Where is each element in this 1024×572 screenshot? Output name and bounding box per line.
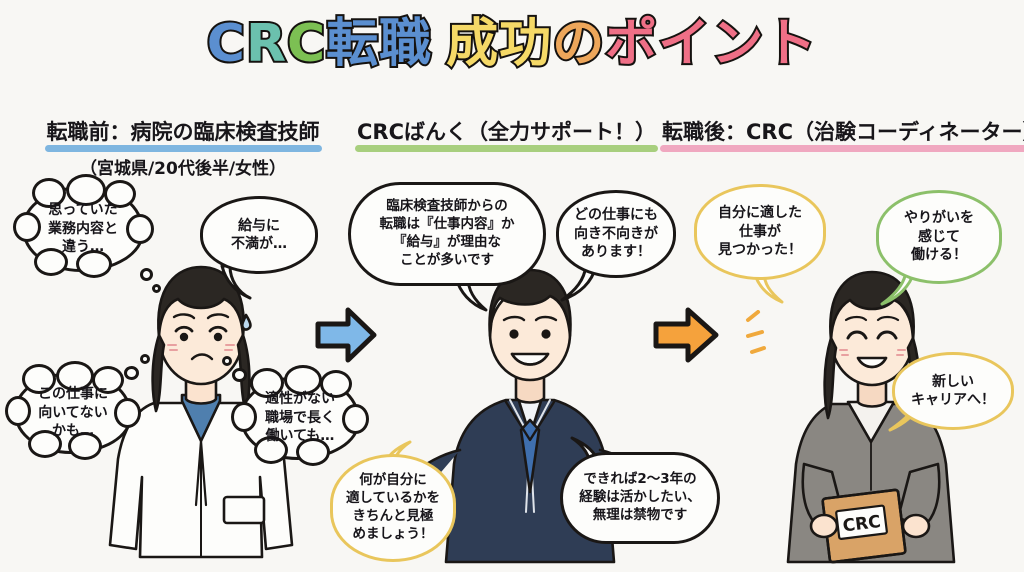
bubble-left-3-tail-dot — [124, 366, 139, 380]
bubble-center-4: できれば2〜3年の 経験は活かしたい、 無理は禁物です — [560, 452, 720, 544]
column-header-before-text: 転職前：病院の臨床検査技師 — [45, 116, 322, 149]
bubble-right-2: やりがいを 感じて 働ける！ — [876, 190, 1002, 284]
underline-blue — [45, 145, 322, 152]
title-part-point: ポイント — [605, 18, 817, 70]
column-header-after-text: 転職後：CRC（治験コーディネーター） — [660, 116, 1024, 149]
bubble-left-4-text: 適性がない 職場で長く 働いても… — [240, 376, 360, 460]
bubble-left-3: この仕事に 向いてない かも… — [14, 372, 132, 454]
column-header-support-text: CRCばんく（全力サポート！） — [355, 116, 658, 149]
bubble-center-3: 何が自分に 適しているかを きちんと見極 めましょう！ — [330, 454, 456, 562]
bubble-center-4-text: できれば2〜3年の 経験は活かしたい、 無理は禁物です — [579, 471, 701, 524]
bubble-left-1-text: 思っていた 業務内容と 違う… — [22, 186, 144, 272]
title-part-c2: C — [287, 18, 326, 70]
bubble-left-3-text: この仕事に 向いてない かも… — [14, 372, 132, 454]
title-part-c1: C — [207, 18, 246, 70]
bubble-center-1: 臨床検査技師からの 転職は『仕事内容』か 『給与』が理由な ことが多いです — [348, 182, 546, 286]
bubble-right-1-text: 自分に適した 仕事が 見つかった！ — [718, 204, 802, 259]
bubble-left-3-tail-dot — [140, 354, 150, 364]
bubble-right-2-text: やりがいを 感じて 働ける！ — [904, 209, 974, 264]
bubble-right-3-text: 新しい キャリアへ！ — [911, 373, 995, 410]
bubble-left-2: 給与に 不満が… — [200, 196, 318, 274]
column-header-before: 転職前：病院の臨床検査技師 （宮城県/20代後半/女性） — [8, 116, 358, 179]
bubble-left-4: 適性がない 職場で長く 働いても… — [240, 376, 360, 460]
bubble-left-1: 思っていた 業務内容と 違う… — [22, 186, 144, 272]
title-part-tenshoku: 転職 — [326, 18, 432, 70]
bubble-left-1-tail-dot — [152, 284, 161, 293]
underline-pink — [660, 145, 1024, 152]
title-part-no: の — [552, 18, 605, 70]
page-title: CRC転職 成功のポイント — [0, 18, 1024, 70]
arrow-center-to-right — [652, 304, 720, 366]
title-part-seiko: 成功 — [446, 18, 552, 70]
bubble-left-1-tail-dot — [140, 268, 153, 281]
bubble-center-2-text: どの仕事にも 向き不向きが あります！ — [574, 206, 658, 261]
arrow-left-to-center — [314, 304, 378, 366]
bubble-left-4-tail-dot — [232, 368, 247, 382]
bubble-left-2-text: 給与に 不満が… — [231, 217, 287, 254]
column-header-support: CRCばんく（全力サポート！） — [355, 116, 655, 149]
underline-green — [355, 145, 658, 152]
column-header-after: 転職後：CRC（治験コーディネーター） — [660, 116, 1018, 149]
column-subheader-before: （宮城県/20代後半/女性） — [8, 154, 358, 179]
bubble-center-3-text: 何が自分に 適しているかを きちんと見極 めましょう！ — [346, 472, 440, 543]
bubble-right-3: 新しい キャリアへ！ — [892, 352, 1014, 430]
infographic-canvas: CRC転職 成功のポイント 転職前：病院の臨床検査技師 （宮城県/20代後半/女… — [0, 0, 1024, 572]
bubble-center-1-text: 臨床検査技師からの 転職は『仕事内容』か 『給与』が理由な ことが多いです — [380, 198, 515, 269]
title-part-r: R — [246, 18, 287, 70]
bubble-right-1: 自分に適した 仕事が 見つかった！ — [694, 184, 826, 280]
bubble-center-2: どの仕事にも 向き不向きが あります！ — [556, 190, 676, 278]
sparkle-lines — [742, 310, 786, 360]
bubble-left-4-tail-dot — [222, 356, 232, 366]
